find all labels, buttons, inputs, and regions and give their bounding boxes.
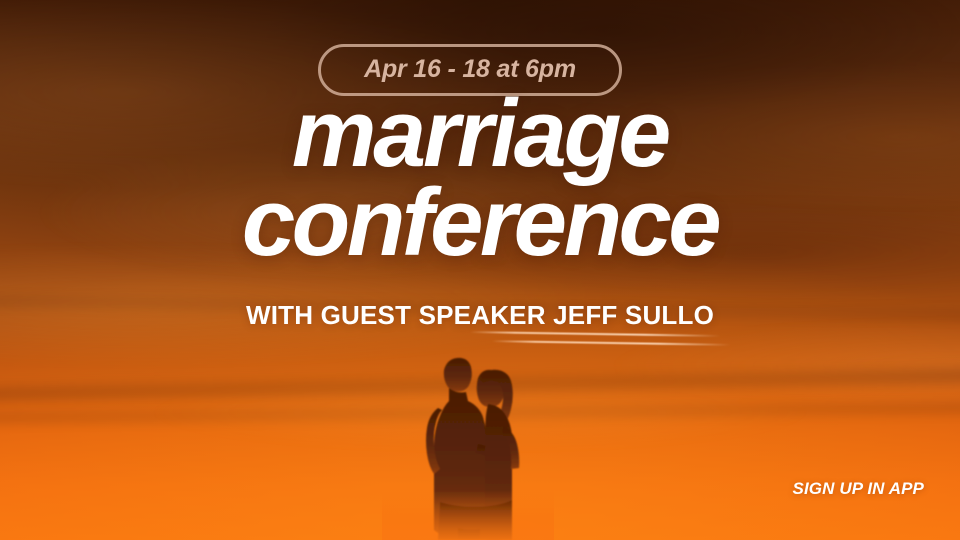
headline: marriage conference: [0, 94, 960, 263]
subtitle-guest-speaker: WITH GUEST SPEAKER JEFF SULLO: [0, 300, 960, 331]
headline-line-marriage: marriage: [5, 94, 955, 175]
couple-silhouette: [392, 352, 544, 540]
marriage-conference-poster: Apr 16 - 18 at 6pm marriage conference W…: [0, 0, 960, 540]
contrail-streak-lower: [492, 340, 730, 346]
headline-line-conference: conference: [0, 183, 960, 264]
sign-up-in-app-label: SIGN UP IN APP: [793, 479, 924, 499]
contrail-streak-upper: [470, 331, 720, 337]
